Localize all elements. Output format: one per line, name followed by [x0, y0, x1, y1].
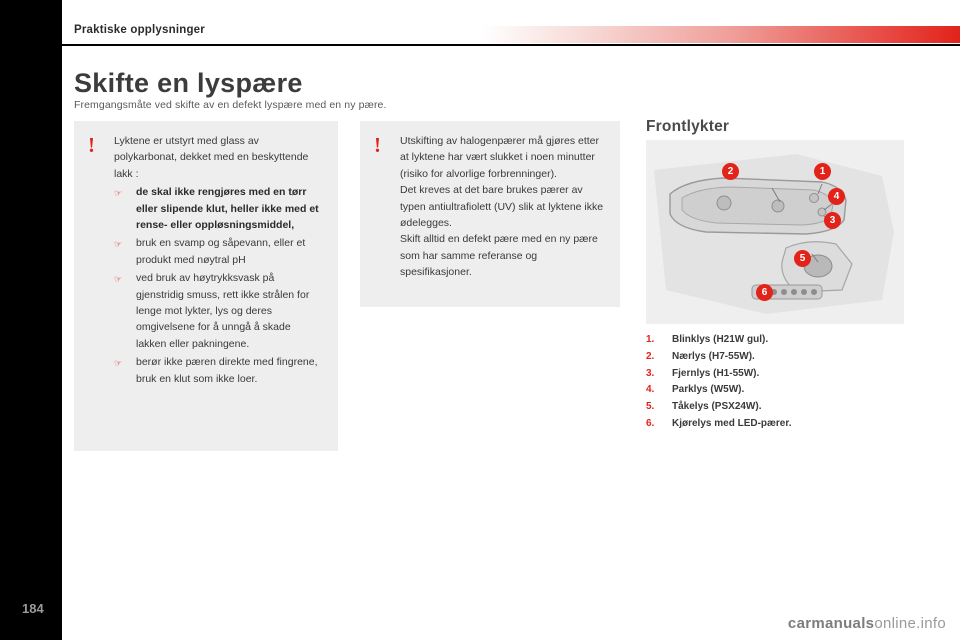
legend-text-4: Parklys (W5W).	[672, 384, 744, 395]
legend-item-4: 4. Parklys (W5W).	[646, 382, 908, 399]
callout-6: 6	[756, 284, 773, 301]
callout-5: 5	[794, 250, 811, 267]
header-gradient-bar	[482, 26, 960, 43]
page-subtitle: Fremgangsmåte ved skifte av en defekt ly…	[74, 99, 387, 111]
warning-left-bullet-1-text: de skal ikke rengjøres med en tørr eller…	[136, 186, 319, 231]
legend-text-6: Kjørelys med LED-pærer.	[672, 418, 791, 429]
legend-item-1: 1. Blinklys (H21W gul).	[646, 332, 908, 349]
legend-number-2: 2.	[646, 349, 654, 366]
warning-left-bullet-1: ☞ de skal ikke rengjøres med en tørr ell…	[114, 184, 322, 233]
legend-number-1: 1.	[646, 332, 654, 349]
bullet-pointer-icon: ☞	[114, 185, 122, 201]
warning-left-bullet-4-text: berør ikke pæren direkte med fingrene, b…	[136, 356, 318, 384]
warning-left-bullet-4: ☞ berør ikke pæren direkte med fingrene,…	[114, 354, 322, 387]
chapter-title: Praktiske opplysninger	[74, 24, 205, 36]
headlight-legend: 1. Blinklys (H21W gul). 2. Nærlys (H7-55…	[646, 332, 908, 433]
header-divider	[62, 44, 960, 46]
legend-text-2: Nærlys (H7-55W).	[672, 351, 755, 362]
callout-3: 3	[824, 212, 841, 229]
headlight-illustration	[646, 140, 904, 324]
callout-2: 2	[722, 163, 739, 180]
bullet-pointer-icon: ☞	[114, 355, 122, 371]
section-title-headlights: Frontlykter	[646, 118, 729, 136]
warning-left-bullet-3-text: ved bruk av høytrykksvask på gjenstridig…	[136, 272, 309, 350]
warning-icon: !	[88, 135, 95, 156]
watermark: carmanualsonline.info	[788, 615, 946, 632]
callout-4: 4	[828, 188, 845, 205]
legend-item-3: 3. Fjernlys (H1-55W).	[646, 366, 908, 383]
manual-page: Praktiske opplysninger Skifte en lyspære…	[0, 0, 960, 640]
page-title: Skifte en lyspære	[74, 68, 303, 99]
warning-icon: !	[374, 135, 381, 156]
watermark-prefix: carmanuals	[788, 615, 874, 632]
legend-number-5: 5.	[646, 399, 654, 416]
warning-mid-paragraph-1: Utskifting av halogenpærer må gjøres ett…	[400, 133, 606, 182]
legend-text-1: Blinklys (H21W gul).	[672, 334, 768, 345]
warning-left-text: Lyktene er utstyrt med glass av polykarb…	[114, 133, 322, 387]
left-black-bar	[0, 0, 62, 640]
warning-left-bullet-2-text: bruk en svamp og såpevann, eller et prod…	[136, 237, 305, 265]
legend-number-4: 4.	[646, 382, 654, 399]
warning-left-intro: Lyktene er utstyrt med glass av polykarb…	[114, 133, 322, 182]
warning-mid-paragraph-3: Skift alltid en defekt pære med en ny pæ…	[400, 231, 606, 280]
legend-item-5: 5. Tåkelys (PSX24W).	[646, 399, 908, 416]
warning-mid-paragraph-2: Det kreves at det bare brukes pærer av t…	[400, 182, 606, 231]
legend-text-5: Tåkelys (PSX24W).	[672, 401, 761, 412]
headlight-diagram: 1 2 3 4 5 6	[646, 140, 904, 324]
legend-text-3: Fjernlys (H1-55W).	[672, 368, 759, 379]
legend-number-3: 3.	[646, 366, 654, 383]
watermark-suffix: online.info	[874, 615, 946, 632]
page-number: 184	[22, 601, 44, 616]
legend-item-2: 2. Nærlys (H7-55W).	[646, 349, 908, 366]
warning-box-middle: ! Utskifting av halogenpærer må gjøres e…	[360, 121, 620, 307]
warning-mid-text: Utskifting av halogenpærer må gjøres ett…	[400, 133, 606, 281]
callout-1: 1	[814, 163, 831, 180]
warning-left-bullet-3: ☞ ved bruk av høytrykksvask på gjenstrid…	[114, 270, 322, 352]
legend-item-6: 6. Kjørelys med LED-pærer.	[646, 416, 908, 433]
warning-left-bullet-2: ☞ bruk en svamp og såpevann, eller et pr…	[114, 235, 322, 268]
warning-box-left: ! Lyktene er utstyrt med glass av polyka…	[74, 121, 338, 451]
legend-number-6: 6.	[646, 416, 654, 433]
bullet-pointer-icon: ☞	[114, 236, 122, 252]
bullet-pointer-icon: ☞	[114, 271, 122, 287]
